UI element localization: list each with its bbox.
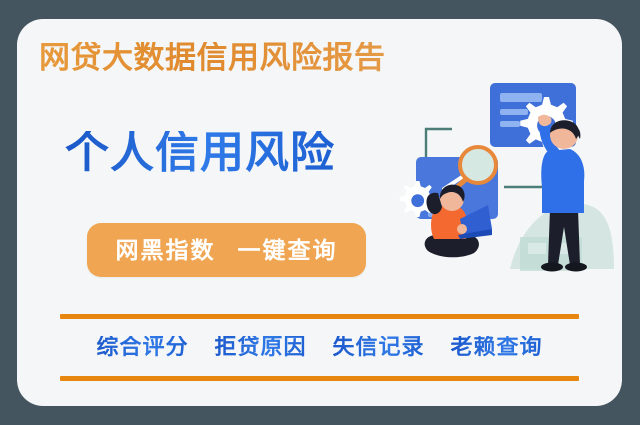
credit-report-illustration (392, 69, 622, 309)
feature-list: 综合评分 拒贷原因 失信记录 老赖查询 (60, 324, 579, 370)
feature-item-deadbeat-query[interactable]: 老赖查询 (451, 336, 543, 358)
page-title: 网贷大数据信用风险报告 (39, 42, 386, 73)
divider-bottom (60, 376, 579, 381)
cta-label-right: 一键查询 (238, 239, 338, 262)
page-subtitle: 个人信用风险 (65, 131, 335, 175)
divider-top (60, 314, 579, 319)
feature-item-default-record[interactable]: 失信记录 (333, 336, 425, 358)
feature-item-score[interactable]: 综合评分 (96, 336, 188, 358)
promo-card: 网贷大数据信用风险报告 个人信用风险 网黑指数 一键查询 综合评分 拒贷原因 失… (17, 19, 622, 406)
cta-label-left: 网黑指数 (116, 239, 216, 262)
feature-item-rejection-reason[interactable]: 拒贷原因 (214, 336, 306, 358)
banner-root: 网贷大数据信用风险报告 个人信用风险 网黑指数 一键查询 综合评分 拒贷原因 失… (0, 0, 640, 425)
query-cta-button[interactable]: 网黑指数 一键查询 (87, 223, 366, 277)
